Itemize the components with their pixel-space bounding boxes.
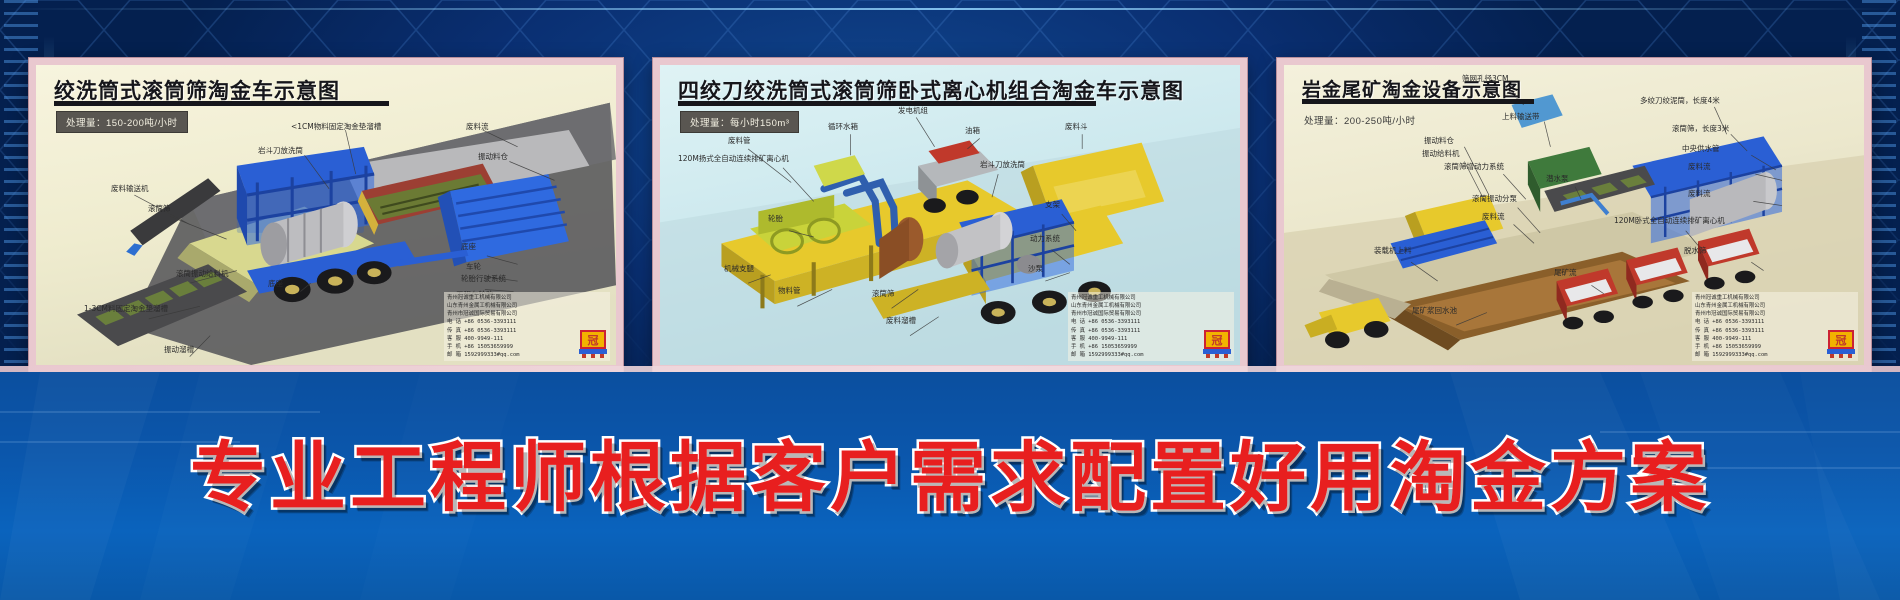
callout-label: 滚筒振动给料机 [176, 270, 229, 278]
diagram-panel-1[interactable]: 绞洗筒式滚筒筛淘金车示意图 处理量：150-200吨/小时 <1CM物料固定淘金… [29, 58, 623, 372]
contact-value: +86 15053659999 [464, 344, 513, 350]
callout-label: 轮胎行驶系统 [461, 275, 506, 283]
contact-value: 400-9949-111 [464, 336, 503, 342]
contact-label: 邮 箱 [1695, 352, 1709, 358]
callout-label: 滚筒筛增动力系统 [1444, 163, 1504, 171]
callout-label: 废料输送机 [111, 185, 149, 193]
callout-label: 脱水筛 [1684, 247, 1707, 255]
glow-line-top [0, 8, 1900, 10]
panel-2-capacity: 处理量：每小时150m³ [680, 111, 799, 133]
contact-value: +86 0536-3393111 [1712, 328, 1764, 334]
callout-label: 机械支腿 [724, 265, 754, 273]
contact-label: 客 服 [1071, 336, 1085, 342]
contact-value: +86 15053659999 [1712, 344, 1761, 350]
callout-label: 油箱 [965, 127, 980, 135]
company-line: 青州市冠诚国际贸易有限公司 [1695, 310, 1855, 318]
callout-label: 尾矿流 [1554, 269, 1577, 277]
panel-1-title-rule [54, 101, 389, 106]
svg-text:冠: 冠 [588, 334, 599, 347]
diagram-panels: 绞洗筒式滚筒筛淘金车示意图 处理量：150-200吨/小时 <1CM物料固定淘金… [0, 58, 1900, 363]
contact-value: 400-9949-111 [1088, 336, 1127, 342]
contact-value: +86 0536-3393111 [464, 319, 516, 325]
contact-value: 1592999333#qq.com [1712, 352, 1767, 358]
contact-label: 传 真 [1071, 328, 1085, 334]
contact-value: 1592999333#qq.com [464, 352, 519, 358]
callout-label: 上料输送带 [1502, 113, 1540, 121]
diagram-panel-3[interactable]: 岩金尾矿淘金设备示意图 处理量：200-250吨/小时 筛网孔径3CM多绞刀绞泥… [1277, 58, 1871, 372]
contact-label: 电 话 [1695, 319, 1709, 325]
panel-2-title-rule [678, 101, 1096, 106]
svg-text:冠: 冠 [1836, 334, 1847, 347]
company-line: 山东青州金属工机械有限公司 [1695, 302, 1855, 310]
callout-label: 废料管 [728, 137, 751, 145]
contact-value: +86 15053659999 [1088, 344, 1137, 350]
callout-label: 废料流 [1688, 190, 1711, 198]
callout-label: 废料流 [1482, 213, 1505, 221]
contact-value: +86 0536-3393111 [1088, 319, 1140, 325]
callout-label: 岩斗刀放洗筒 [980, 161, 1025, 169]
panel-3-title-rule [1302, 99, 1534, 104]
contact-label: 邮 箱 [1071, 352, 1085, 358]
contact-value: +86 0536-3393111 [464, 328, 516, 334]
company-line: 山东青州金属工机械有限公司 [1071, 302, 1231, 310]
strip-divider [0, 366, 1900, 372]
contact-value: +86 0536-3393111 [1712, 319, 1764, 325]
callout-label: 支架 [1045, 201, 1060, 209]
callout-label: <1CM物料固定淘金垫溜槽 [291, 123, 381, 131]
callout-label: 筛网孔径3CM [1462, 75, 1508, 83]
callout-label: 发电机组 [898, 107, 928, 115]
callout-label: 120M卧式全自动连续排矿离心机 [1614, 217, 1725, 225]
panel-3-capacity: 处理量：200-250吨/小时 [1304, 111, 1416, 129]
callout-label: 多绞刀绞泥筒，长度4米 [1640, 97, 1720, 105]
factory-badge-icon: 冠 [576, 329, 610, 359]
callout-label: 废料溜槽 [886, 317, 916, 325]
callout-label: 底座 [268, 280, 283, 288]
company-line: 青州冠诚重工机械有限公司 [447, 294, 607, 302]
callout-label: 振动料仓 [478, 153, 508, 161]
callout-label: 轮胎 [768, 215, 783, 223]
factory-badge-icon: 冠 [1824, 329, 1858, 359]
contact-label: 手 机 [1695, 344, 1709, 350]
callout-label: 循环水箱 [828, 123, 858, 131]
callout-label: 废料斗 [1065, 123, 1088, 131]
contact-value: 1592999333#qq.com [1088, 352, 1143, 358]
svg-text:冠: 冠 [1212, 334, 1223, 347]
callout-label: 动力系统 [1030, 235, 1060, 243]
callout-label: 物料管 [778, 287, 801, 295]
callout-label: 废料流 [1688, 163, 1711, 171]
callout-label: 滚筒筛 [148, 205, 171, 213]
contact-label: 电 话 [1071, 319, 1085, 325]
callout-label: 振动溜槽 [164, 346, 194, 354]
company-line: 青州市冠诚国际贸易有限公司 [1071, 310, 1231, 318]
contact-label: 客 服 [447, 336, 461, 342]
contact-label: 客 服 [1695, 336, 1709, 342]
callout-label: 沙泵 [1028, 265, 1043, 273]
callout-label: 120M扬式全自动连续排矿离心机 [678, 155, 789, 163]
company-line: 青州冠诚重工机械有限公司 [1071, 294, 1231, 302]
headline: 专业工程师根据客户需求配置好用淘金方案 [0, 416, 1900, 526]
company-line: 青州冠诚重工机械有限公司 [1695, 294, 1855, 302]
callout-label: 底座 [461, 243, 476, 251]
callout-label: 振动料仓 [1424, 137, 1454, 145]
callout-label: 滚筒振动分泵 [1472, 195, 1517, 203]
callout-label: 潜水泵 [1546, 175, 1569, 183]
contact-label: 电 话 [447, 319, 461, 325]
callout-label: 废料流 [466, 123, 489, 131]
callout-label: 岩斗刀放洗筒 [258, 147, 303, 155]
contact-label: 邮 箱 [447, 352, 461, 358]
callout-label: 装载机上料 [1374, 247, 1412, 255]
promo-banner: 青州冠诚重工机械有限公司 [0, 0, 1900, 600]
callout-label: 车轮 [466, 263, 481, 271]
diagram-panel-2[interactable]: 四绞刀绞洗筒式滚筒筛卧式离心机组合淘金车示意图 处理量：每小时150m³ 发电机… [653, 58, 1247, 372]
callout-label: 尾矿浆回水池 [1412, 307, 1457, 315]
callout-label: 振动给料机 [1422, 150, 1460, 158]
callout-label: 滚筒筛 [872, 290, 895, 298]
contact-label: 手 机 [1071, 344, 1085, 350]
company-line: 山东青州金属工机械有限公司 [447, 302, 607, 310]
panel-1-capacity: 处理量：150-200吨/小时 [56, 111, 188, 133]
company-line: 青州市冠诚国际贸易有限公司 [447, 310, 607, 318]
contact-label: 传 真 [1695, 328, 1709, 334]
factory-badge-icon: 冠 [1200, 329, 1234, 359]
headline-strip: 专业工程师根据客户需求配置好用淘金方案 专业工程师根据客户需求配置好用淘金方案 [0, 372, 1900, 600]
contact-value: +86 0536-3393111 [1088, 328, 1140, 334]
contact-value: 400-9949-111 [1712, 336, 1751, 342]
callout-label: 中央供水管 [1682, 145, 1720, 153]
contact-label: 手 机 [447, 344, 461, 350]
contact-label: 传 真 [447, 328, 461, 334]
callout-label: 滚筒筛，长度3米 [1672, 125, 1729, 133]
callout-label: 1-3CM料固定淘金垫溜槽 [84, 305, 168, 313]
